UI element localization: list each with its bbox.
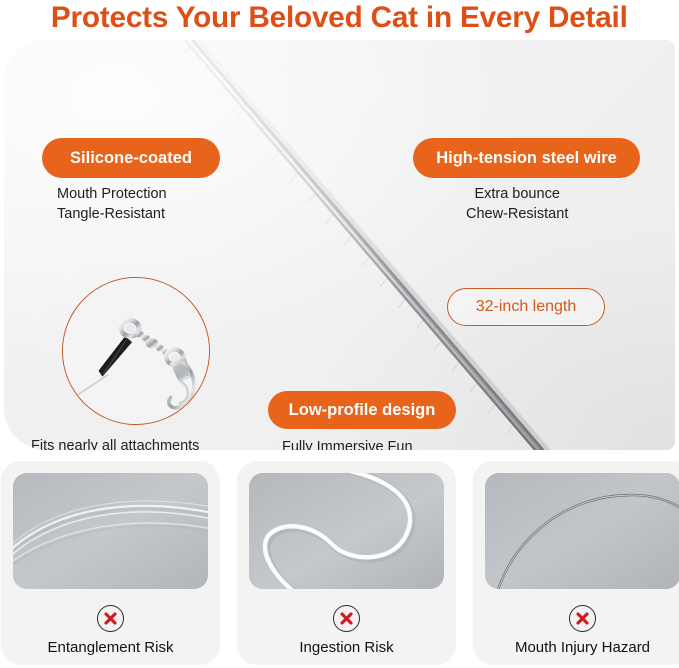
warning-card-ingestion: Ingestion Risk	[237, 461, 456, 665]
feature-subtext-line: Fully Immersive Fun	[282, 437, 413, 450]
warning-label: Entanglement Risk	[48, 639, 174, 656]
attachment-clip-image	[63, 278, 209, 424]
warning-x-badge	[97, 605, 124, 632]
warning-x-badge	[333, 605, 360, 632]
warning-image-ingestion	[249, 473, 444, 589]
hero-inner: Silicone-coated Mouth Protection Tangle-…	[4, 40, 675, 450]
warning-cards-row: Entanglement Risk	[0, 461, 679, 668]
attachment-detail-circle	[62, 277, 210, 425]
feature-badge-high-tension-steel-wire: High-tension steel wire	[413, 138, 640, 178]
warning-card-mouth-injury: Mouth Injury Hazard	[473, 461, 679, 665]
feature-subtext-lowprofile: Fully Immersive Fun	[282, 437, 413, 450]
feature-subtext-silicone: Mouth Protection Tangle-Resistant	[57, 184, 167, 224]
warning-image-mouth-injury	[485, 473, 679, 589]
tangled-strings-illustration	[13, 473, 208, 589]
attachment-detail-caption: Fits nearly all attachments	[31, 436, 199, 450]
feature-badge-low-profile-design: Low-profile design	[268, 391, 456, 429]
feature-badge-length: 32-inch length	[447, 288, 605, 326]
warning-card-entanglement: Entanglement Risk	[1, 461, 220, 665]
warning-label: Ingestion Risk	[299, 639, 393, 656]
feature-badge-silicone-coated: Silicone-coated	[42, 138, 220, 178]
bare-metal-wire-illustration	[485, 473, 679, 589]
feature-subtext-line: Tangle-Resistant	[57, 204, 167, 224]
warning-image-entanglement	[13, 473, 208, 589]
coiled-cord-illustration	[249, 473, 444, 589]
feature-subtext-line: Mouth Protection	[57, 184, 167, 204]
page-title: Protects Your Beloved Cat in Every Detai…	[51, 1, 628, 35]
close-icon	[103, 611, 118, 626]
feature-subtext-line: Extra bounce	[466, 184, 568, 204]
warning-x-badge	[569, 605, 596, 632]
close-icon	[339, 611, 354, 626]
page-title-bar: Protects Your Beloved Cat in Every Detai…	[0, 0, 679, 38]
feature-subtext-line: Chew-Resistant	[466, 204, 568, 224]
feature-subtext-steel: Extra bounce Chew-Resistant	[466, 184, 568, 224]
hero-panel: Silicone-coated Mouth Protection Tangle-…	[4, 40, 675, 450]
close-icon	[575, 611, 590, 626]
warning-label: Mouth Injury Hazard	[515, 639, 650, 656]
